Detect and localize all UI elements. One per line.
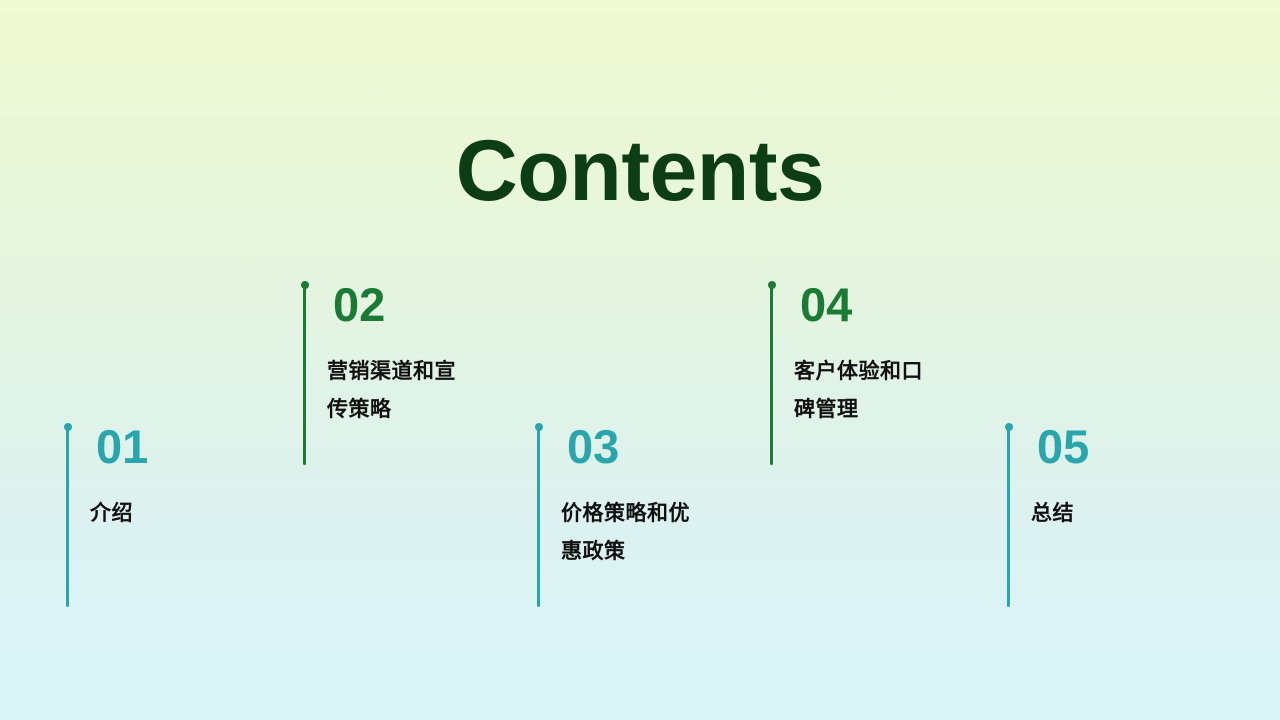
timeline-rule-01 <box>66 427 69 607</box>
agenda-number-04: 04 <box>800 281 852 328</box>
contents-slide: Contents 01 介绍 02 营销渠道和宣 传策略 03 价格策略和优 惠… <box>0 0 1280 720</box>
timeline-rule-03 <box>537 427 540 607</box>
agenda-label-04: 客户体验和口 碑管理 <box>794 353 994 429</box>
timeline-dot-icon-04 <box>768 281 776 289</box>
timeline-rule-05 <box>1007 427 1010 607</box>
timeline-dot-icon-05 <box>1005 423 1013 431</box>
agenda-number-02: 02 <box>333 281 385 328</box>
agenda-number-03: 03 <box>567 423 619 470</box>
agenda-label-02-line-1: 营销渠道和宣 <box>327 353 527 391</box>
timeline-dot-icon-01 <box>64 423 72 431</box>
agenda-label-02-line-2: 传策略 <box>327 391 527 429</box>
agenda-label-01-line-1: 介绍 <box>90 495 290 533</box>
timeline-rule-04 <box>770 285 773 465</box>
agenda-label-03: 价格策略和优 惠政策 <box>561 495 761 571</box>
agenda-label-04-line-2: 碑管理 <box>794 391 994 429</box>
agenda-label-05-line-1: 总结 <box>1031 495 1231 533</box>
agenda-label-03-line-2: 惠政策 <box>561 533 761 571</box>
agenda-label-01: 介绍 <box>90 495 290 533</box>
timeline-rule-02 <box>303 285 306 465</box>
agenda-number-05: 05 <box>1037 423 1089 470</box>
agenda-label-03-line-1: 价格策略和优 <box>561 495 761 533</box>
agenda-label-02: 营销渠道和宣 传策略 <box>327 353 527 429</box>
agenda-label-05: 总结 <box>1031 495 1231 533</box>
timeline-dot-icon-03 <box>535 423 543 431</box>
agenda-number-01: 01 <box>96 423 148 470</box>
page-title: Contents <box>0 128 1280 214</box>
timeline-dot-icon-02 <box>301 281 309 289</box>
agenda-label-04-line-1: 客户体验和口 <box>794 353 994 391</box>
